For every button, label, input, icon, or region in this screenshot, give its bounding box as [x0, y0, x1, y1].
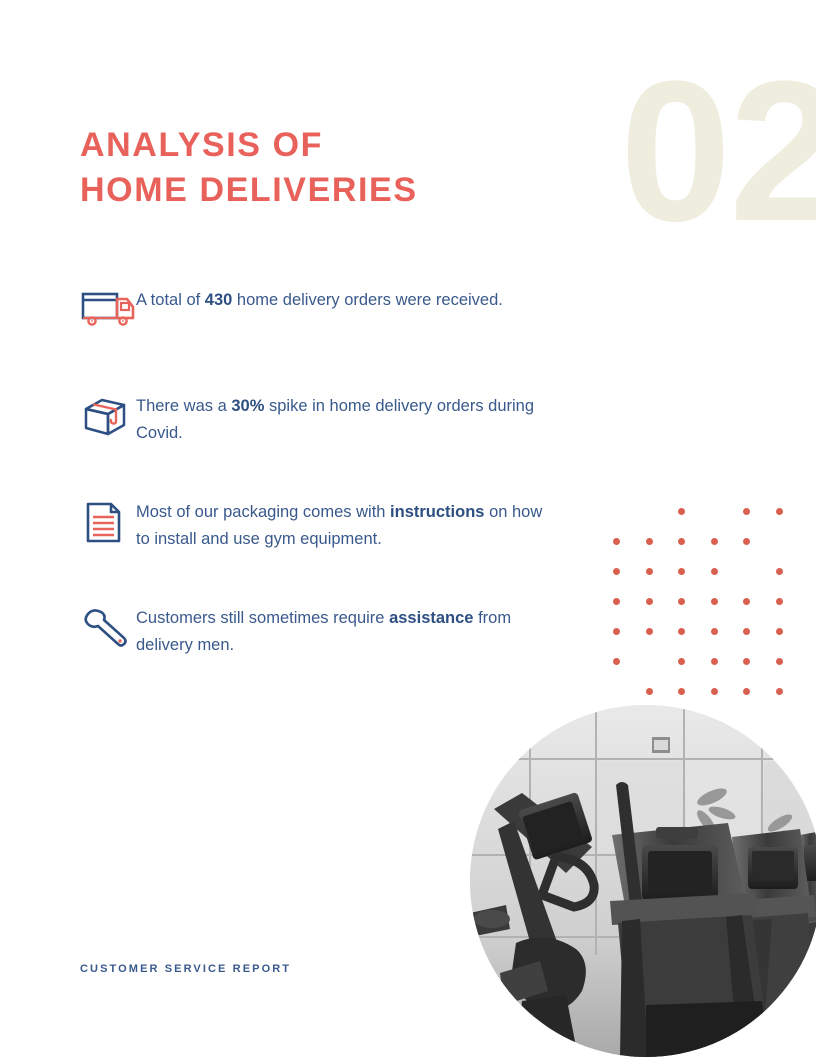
- grid-dot: [776, 688, 809, 718]
- package-box-icon: [80, 392, 136, 444]
- grid-dot: [711, 598, 744, 628]
- grid-dot: [711, 568, 744, 598]
- gym-photo: [470, 705, 816, 1057]
- bullet-list: A total of 430 home delivery orders were…: [80, 286, 550, 660]
- bullet-text: There was a 30% spike in home delivery o…: [136, 392, 550, 447]
- grid-dot: [613, 538, 646, 568]
- delivery-truck-icon: [80, 286, 136, 338]
- grid-dot: [678, 508, 711, 538]
- bullet-text: Customers still sometimes require assist…: [136, 604, 550, 659]
- footer-label: CUSTOMER SERVICE REPORT: [80, 963, 291, 975]
- grid-dot: [646, 598, 679, 628]
- bullet-item: Customers still sometimes require assist…: [80, 604, 550, 660]
- grid-dot: [743, 658, 776, 688]
- grid-dot-empty: [776, 538, 809, 568]
- grid-dot: [613, 628, 646, 658]
- grid-dot: [711, 688, 744, 718]
- grid-dot: [646, 628, 679, 658]
- grid-dot: [743, 538, 776, 568]
- bullet-item: There was a 30% spike in home delivery o…: [80, 392, 550, 448]
- grid-dot: [743, 628, 776, 658]
- grid-dot-empty: [646, 658, 679, 688]
- grid-dot: [776, 598, 809, 628]
- bullet-text-after: home delivery orders were received.: [232, 291, 503, 309]
- document-instructions-icon: [80, 498, 136, 550]
- grid-dot: [678, 598, 711, 628]
- bullet-text-before: There was a: [136, 397, 231, 415]
- grid-dot-empty: [711, 508, 744, 538]
- grid-dot: [776, 508, 809, 538]
- grid-dot: [678, 568, 711, 598]
- grid-dot: [613, 658, 646, 688]
- bullet-text-highlight: instructions: [390, 503, 484, 521]
- bullet-item: A total of 430 home delivery orders were…: [80, 286, 550, 342]
- grid-dot: [646, 568, 679, 598]
- grid-dot: [743, 598, 776, 628]
- bullet-item: Most of our packaging comes with instruc…: [80, 498, 550, 554]
- grid-dot: [711, 538, 744, 568]
- bullet-text-highlight: 430: [205, 291, 233, 309]
- bullet-text: A total of 430 home delivery orders were…: [136, 286, 503, 314]
- grid-dot-empty: [646, 508, 679, 538]
- grid-dot: [678, 658, 711, 688]
- bullet-text-before: Customers still sometimes require: [136, 609, 389, 627]
- grid-dot: [711, 628, 744, 658]
- section-number: 02: [620, 52, 816, 252]
- grid-dot: [743, 508, 776, 538]
- grid-dot: [613, 598, 646, 628]
- wrench-icon: [80, 604, 136, 656]
- grid-dot: [776, 628, 809, 658]
- grid-dot-empty: [613, 508, 646, 538]
- grid-dot: [613, 568, 646, 598]
- grid-dot: [711, 658, 744, 688]
- bullet-text-highlight: 30%: [231, 397, 264, 415]
- grid-dot: [678, 538, 711, 568]
- bullet-text-before: A total of: [136, 291, 205, 309]
- page-title: ANALYSIS OF HOME DELIVERIES: [80, 123, 560, 213]
- grid-dot: [776, 568, 809, 598]
- grid-dot-empty: [743, 568, 776, 598]
- decorative-dot-grid: [613, 508, 809, 718]
- bullet-text-before: Most of our packaging comes with: [136, 503, 390, 521]
- bullet-text: Most of our packaging comes with instruc…: [136, 498, 550, 553]
- bullet-text-highlight: assistance: [389, 609, 473, 627]
- grid-dot: [646, 538, 679, 568]
- grid-dot: [678, 628, 711, 658]
- grid-dot: [743, 688, 776, 718]
- grid-dot: [776, 658, 809, 688]
